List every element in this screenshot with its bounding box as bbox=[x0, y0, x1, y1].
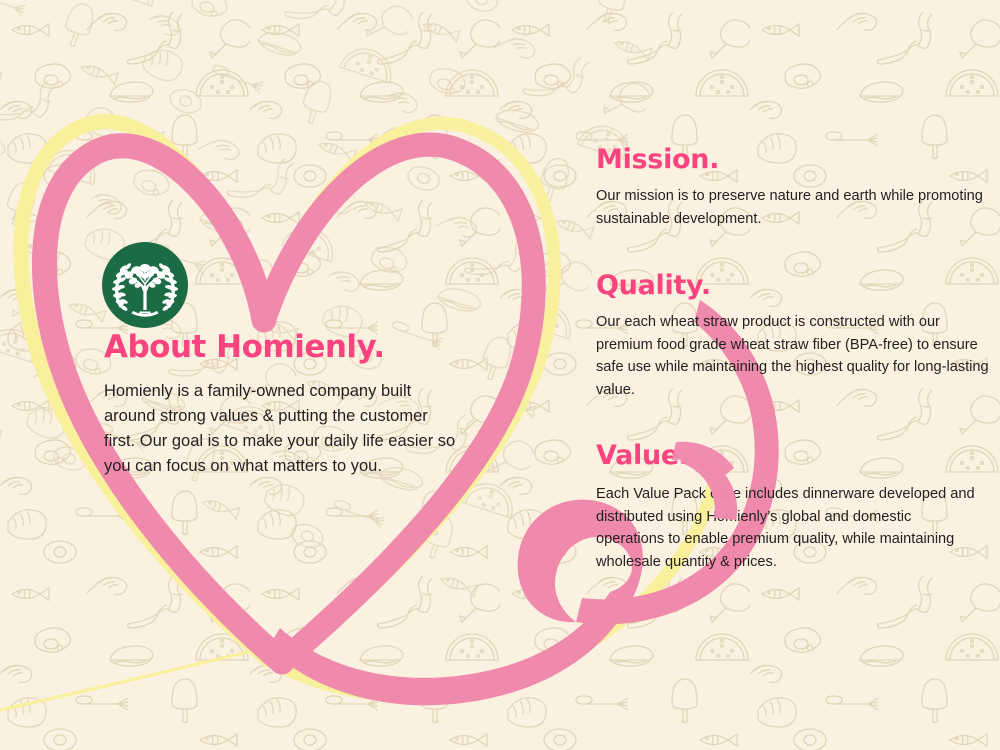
quality-heading: Quality. bbox=[596, 272, 996, 299]
mission-heading: Mission. bbox=[596, 146, 996, 173]
value-section: Value. Each Value Pack case includes din… bbox=[596, 442, 996, 573]
about-homienly-banner: About Homienly. Homienly is a family-own… bbox=[0, 0, 1000, 750]
mission-body: Our mission is to preserve nature and ea… bbox=[596, 185, 994, 230]
value-heading: Value. bbox=[596, 442, 996, 469]
value-body: Each Value Pack case includes dinnerware… bbox=[596, 483, 976, 573]
quality-section: Quality. Our each wheat straw product is… bbox=[596, 272, 996, 401]
quality-body: Our each wheat straw product is construc… bbox=[596, 311, 996, 401]
about-section: About Homienly. Homienly is a family-own… bbox=[104, 332, 464, 479]
mission-section: Mission. Our mission is to preserve natu… bbox=[596, 146, 996, 230]
about-body: Homienly is a family-owned company built… bbox=[104, 379, 456, 479]
about-heading: About Homienly. bbox=[104, 332, 464, 363]
homienly-logo bbox=[100, 240, 190, 330]
